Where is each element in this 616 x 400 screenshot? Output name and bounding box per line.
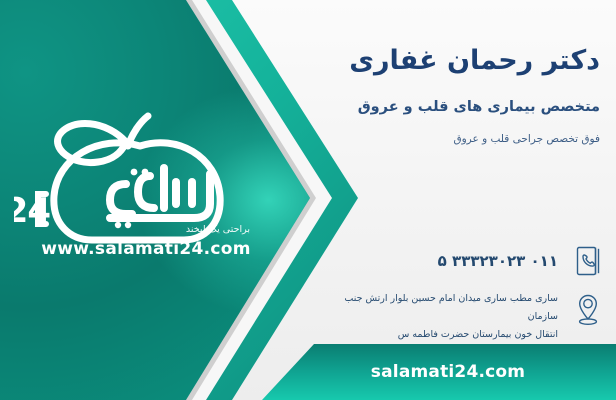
brand-logo: 24 براحتی یک لبخند www.salamati24.com (14, 112, 266, 280)
content-panel: دکتر رحمان غفاری متخصص بیماری های قلب و … (316, 0, 616, 400)
footer-bar: salamati24.com (262, 344, 616, 400)
address-line-2: انتقال خون بیمارستان حضرت فاطمه س (320, 326, 602, 344)
logo-tagline: براحتی یک لبخند (186, 224, 250, 235)
business-card: 24 براحتی یک لبخند www.salamati24.com دک… (0, 0, 616, 400)
logo-24-badge: 24 (14, 191, 50, 231)
doctor-subspecialty: فوق تخصص جراحی قلب و عروق (453, 133, 600, 145)
footer-website[interactable]: salamati24.com (371, 362, 525, 382)
contact-row-phone: ۰۱۱ ۳۳۳۲۳۰۲۳ ۵ (320, 244, 602, 282)
address-line-1: ساری مطب ساری میدان امام حسین بلوار ارتش… (320, 290, 602, 326)
logo-url[interactable]: www.salamati24.com (20, 239, 272, 259)
phone-book-icon (570, 244, 602, 280)
contact-block: ۰۱۱ ۳۳۳۲۳۰۲۳ ۵ ساری مطب ساری میدان امام … (320, 244, 602, 344)
contact-row-address: ساری مطب ساری میدان امام حسین بلوار ارتش… (320, 290, 602, 344)
phone-number[interactable]: ۰۱۱ ۳۳۳۲۳۰۲۳ ۵ (320, 244, 602, 270)
location-pin-icon (570, 292, 602, 328)
doctor-name: دکتر رحمان غفاری (349, 44, 600, 78)
doctor-specialty: متخصص بیماری های قلب و عروق (358, 99, 600, 115)
svg-text:24: 24 (14, 191, 50, 231)
